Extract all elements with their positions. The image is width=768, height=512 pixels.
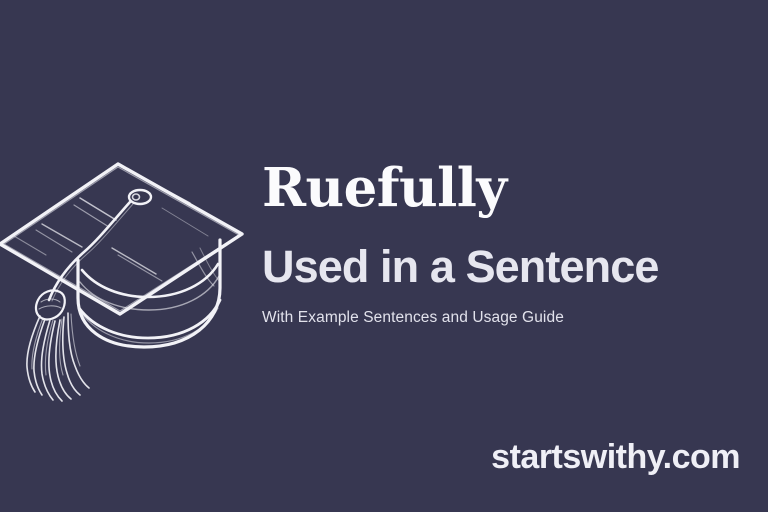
tassel-strands	[27, 313, 89, 401]
graduation-cap-icon	[0, 148, 252, 378]
card-canvas: Ruefully Used in a Sentence With Example…	[0, 0, 768, 512]
tassel-cord	[49, 202, 133, 301]
word-title: Ruefully	[262, 158, 758, 220]
page-subtitle: With Example Sentences and Usage Guide	[262, 308, 758, 328]
mortarboard-button	[129, 190, 151, 204]
brand-watermark: startswithy.com	[491, 437, 740, 477]
page-title: Used in a Sentence	[262, 242, 758, 292]
headline-block: Ruefully Used in a Sentence With Example…	[262, 158, 758, 328]
